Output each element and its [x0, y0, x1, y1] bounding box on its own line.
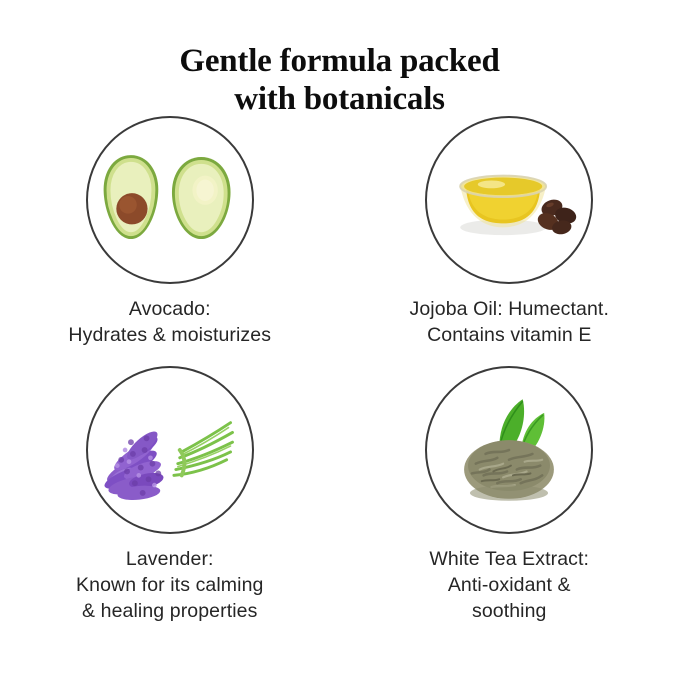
ingredient-white-tea: White Tea Extract: Anti-oxidant & soothi… [340, 366, 679, 624]
white-tea-leaves-icon [427, 368, 591, 532]
white-tea-caption-line-1: White Tea Extract: [429, 546, 589, 572]
lavender-caption-line-1: Lavender: [76, 546, 263, 572]
page-title-line-2: with botanicals [0, 80, 679, 118]
jojoba-circle-frame [425, 116, 593, 284]
page-title-line-1: Gentle formula packed [0, 42, 679, 80]
jojoba-caption-line-1: Jojoba Oil: Humectant. [410, 296, 609, 322]
white-tea-circle-frame [425, 366, 593, 534]
avocado-circle-frame [86, 116, 254, 284]
avocado-caption-line-1: Avocado: [68, 296, 271, 322]
avocado-caption-line-2: Hydrates & moisturizes [68, 322, 271, 348]
ingredient-row-bottom: Lavender: Known for its calming & healin… [0, 366, 679, 624]
lavender-bouquet-icon [88, 368, 252, 532]
ingredient-row-top: Avocado: Hydrates & moisturizes [0, 116, 679, 348]
ingredient-grid: Avocado: Hydrates & moisturizes [0, 116, 679, 624]
lavender-caption: Lavender: Known for its calming & healin… [76, 546, 263, 624]
lavender-caption-line-2: Known for its calming [76, 572, 263, 598]
lavender-caption-line-3: & healing properties [76, 598, 263, 624]
infographic-page: Gentle formula packed with botanicals [0, 0, 679, 679]
avocado-caption: Avocado: Hydrates & moisturizes [68, 296, 271, 348]
ingredient-avocado: Avocado: Hydrates & moisturizes [0, 116, 340, 348]
ingredient-jojoba-oil: Jojoba Oil: Humectant. Contains vitamin … [340, 116, 679, 348]
avocado-halves-icon [88, 118, 252, 282]
page-title: Gentle formula packed with botanicals [0, 42, 679, 118]
jojoba-caption: Jojoba Oil: Humectant. Contains vitamin … [410, 296, 609, 348]
lavender-circle-frame [86, 366, 254, 534]
jojoba-oil-bowl-icon [427, 118, 591, 282]
white-tea-caption-line-3: soothing [429, 598, 589, 624]
ingredient-lavender: Lavender: Known for its calming & healin… [0, 366, 340, 624]
white-tea-caption: White Tea Extract: Anti-oxidant & soothi… [429, 546, 589, 624]
white-tea-caption-line-2: Anti-oxidant & [429, 572, 589, 598]
jojoba-caption-line-2: Contains vitamin E [410, 322, 609, 348]
